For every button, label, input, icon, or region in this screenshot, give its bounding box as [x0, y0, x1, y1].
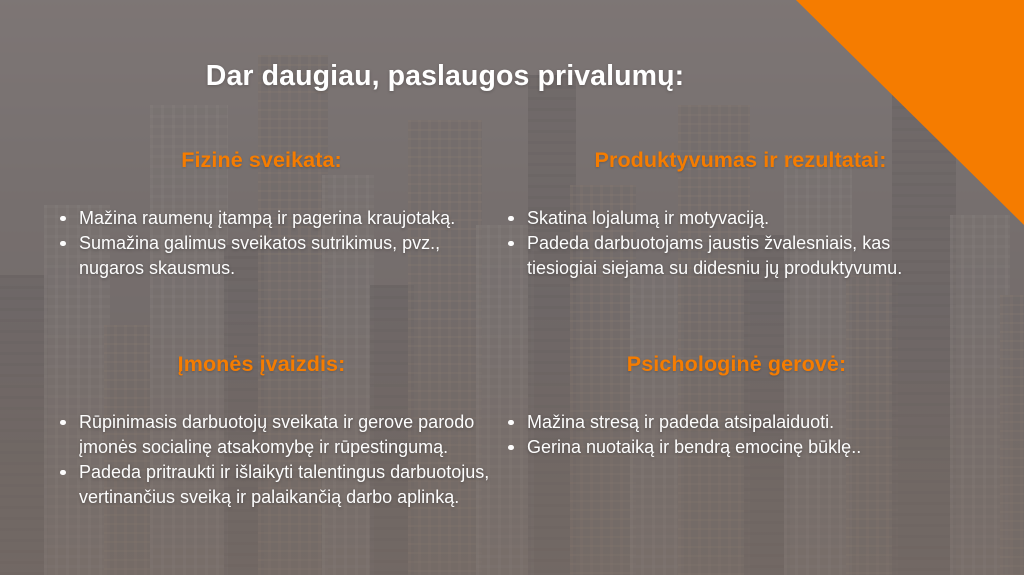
list-item: Mažina raumenų įtampą ir pagerina kraujo…: [52, 206, 495, 231]
section-heading-imones-ivaizdis: Įmonės įvaizdis:: [40, 352, 495, 377]
list-item: Skatina lojalumą ir motyvaciją.: [500, 206, 950, 231]
section-heading-fizine-sveikata: Fizinė sveikata:: [40, 148, 495, 173]
slide-content: Dar daugiau, paslaugos privalumų: Fizinė…: [0, 0, 1024, 575]
list-item: Padeda darbuotojams jaustis žvalesniais,…: [500, 231, 950, 281]
section-imones-ivaizdis: Įmonės įvaizdis: Rūpinimasis darbuotojų …: [40, 352, 495, 510]
list-item: Sumažina galimus sveikatos sutrikimus, p…: [52, 231, 495, 281]
list-item: Padeda pritraukti ir išlaikyti talenting…: [52, 460, 495, 510]
section-psichologine-gerove: Psichologinė gerovė: Mažina stresą ir pa…: [495, 352, 950, 460]
bullet-list-produktyvumas-ir-rezultatai: Skatina lojalumą ir motyvaciją. Padeda d…: [500, 206, 950, 281]
list-item: Mažina stresą ir padeda atsipalaiduoti.: [500, 410, 950, 435]
list-item: Rūpinimasis darbuotojų sveikata ir gerov…: [52, 410, 495, 460]
presentation-slide: Dar daugiau, paslaugos privalumų: Fizinė…: [0, 0, 1024, 575]
bullet-list-psichologine-gerove: Mažina stresą ir padeda atsipalaiduoti. …: [500, 410, 950, 460]
section-produktyvumas-ir-rezultatai: Produktyvumas ir rezultatai: Skatina loj…: [495, 148, 950, 281]
list-item: Gerina nuotaiką ir bendrą emocinę būklę.…: [500, 435, 950, 460]
bullet-list-imones-ivaizdis: Rūpinimasis darbuotojų sveikata ir gerov…: [52, 410, 495, 510]
section-fizine-sveikata: Fizinė sveikata: Mažina raumenų įtampą i…: [40, 148, 495, 281]
slide-title: Dar daugiau, paslaugos privalumų:: [0, 60, 890, 93]
bullet-list-fizine-sveikata: Mažina raumenų įtampą ir pagerina kraujo…: [52, 206, 495, 281]
section-heading-psichologine-gerove: Psichologinė gerovė:: [495, 352, 950, 377]
section-heading-produktyvumas-ir-rezultatai: Produktyvumas ir rezultatai:: [495, 148, 950, 173]
